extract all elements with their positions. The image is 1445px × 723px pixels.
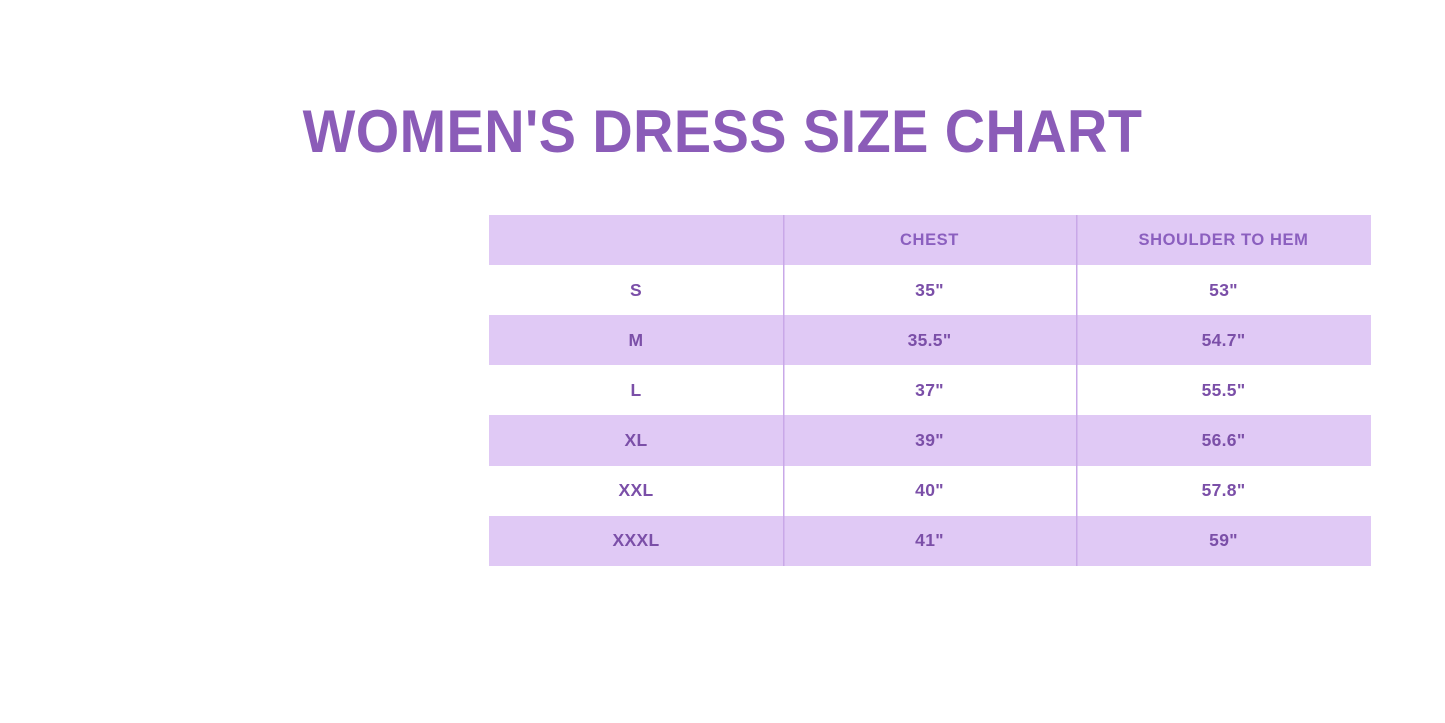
page-title: WOMEN'S DRESS SIZE CHART xyxy=(51,97,1395,167)
cell-shoulder-to-hem: 54.7" xyxy=(1076,315,1371,365)
table-row: XXL 40" 57.8" xyxy=(489,466,1371,516)
cell-chest: 39" xyxy=(783,415,1076,465)
cell-size: M xyxy=(489,315,783,365)
cell-shoulder-to-hem: 59" xyxy=(1076,516,1371,566)
cell-size: L xyxy=(489,365,783,415)
table-row: XXXL 41" 59" xyxy=(489,516,1371,566)
table-body: S 35" 53" M 35.5" 54.7" L 37" 55.5" XL 3… xyxy=(489,265,1371,566)
cell-size: XXL xyxy=(489,466,783,516)
cell-shoulder-to-hem: 55.5" xyxy=(1076,365,1371,415)
table-row: L 37" 55.5" xyxy=(489,365,1371,415)
cell-chest: 35.5" xyxy=(783,315,1076,365)
column-header-size xyxy=(489,215,783,265)
cell-shoulder-to-hem: 57.8" xyxy=(1076,466,1371,516)
column-header-shoulder-to-hem: SHOULDER TO HEM xyxy=(1076,215,1371,265)
table-header: CHEST SHOULDER TO HEM xyxy=(489,215,1371,265)
cell-size: XL xyxy=(489,415,783,465)
cell-chest: 40" xyxy=(783,466,1076,516)
cell-size: XXXL xyxy=(489,516,783,566)
table-header-row: CHEST SHOULDER TO HEM xyxy=(489,215,1371,265)
cell-chest: 41" xyxy=(783,516,1076,566)
size-chart-table: CHEST SHOULDER TO HEM S 35" 53" M 35.5" … xyxy=(489,215,1371,566)
cell-shoulder-to-hem: 56.6" xyxy=(1076,415,1371,465)
table-row: M 35.5" 54.7" xyxy=(489,315,1371,365)
cell-shoulder-to-hem: 53" xyxy=(1076,265,1371,315)
column-header-chest: CHEST xyxy=(783,215,1076,265)
cell-chest: 35" xyxy=(783,265,1076,315)
cell-size: S xyxy=(489,265,783,315)
cell-chest: 37" xyxy=(783,365,1076,415)
table-row: S 35" 53" xyxy=(489,265,1371,315)
table-row: XL 39" 56.6" xyxy=(489,415,1371,465)
